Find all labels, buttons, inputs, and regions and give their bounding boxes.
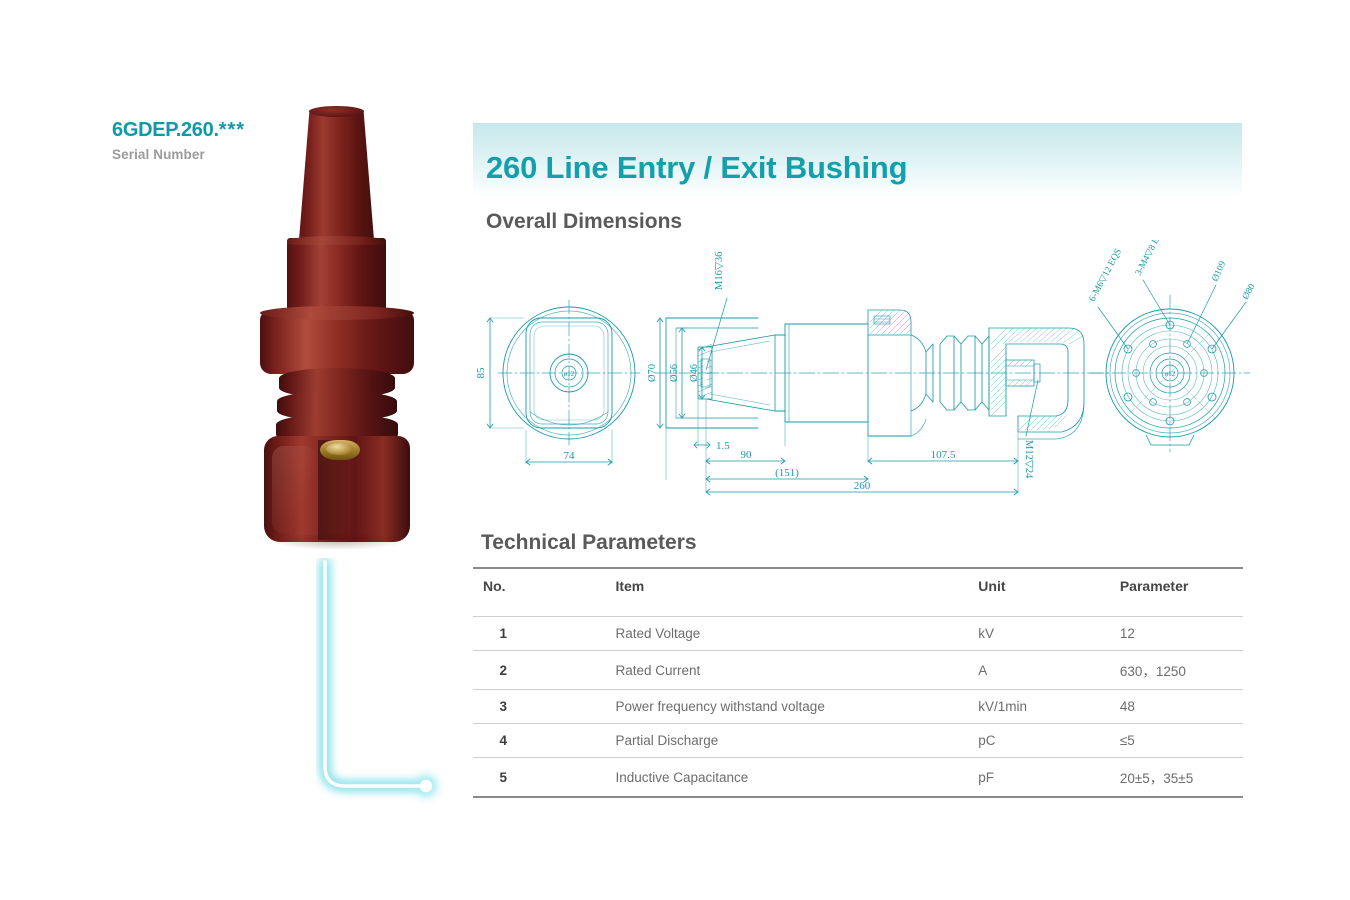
- left-view-height-dim: 85: [475, 367, 487, 379]
- cell-parameter: 630，1250: [1120, 651, 1243, 690]
- cell-item: Partial Discharge: [533, 724, 978, 758]
- cell-item: Rated Voltage: [533, 617, 978, 651]
- drawing-left-end-view: ø12 85 74: [475, 300, 640, 465]
- section-dim-d70: Ø70: [647, 364, 658, 382]
- column-header-parameter: Parameter: [1120, 568, 1243, 617]
- column-header-unit: Unit: [978, 568, 1120, 617]
- cell-unit: pF: [978, 758, 1120, 798]
- right-view-callout-d109: Ø109: [1211, 260, 1229, 284]
- table-row: 4 Partial Discharge pC ≤5: [473, 724, 1243, 758]
- section-len-151: (151): [775, 467, 799, 479]
- table-header: No. Item Unit Parameter: [473, 568, 1243, 617]
- section-title-technical-parameters: Technical Parameters: [481, 531, 697, 555]
- technical-parameters-table: No. Item Unit Parameter 1 Rated Voltage …: [473, 567, 1243, 798]
- cell-no: 1: [473, 617, 533, 651]
- product-top-cone: [299, 110, 374, 240]
- drawing-right-end-view: ø12: [1088, 240, 1258, 452]
- cell-parameter: 12: [1120, 617, 1243, 651]
- cell-item: Rated Current: [533, 651, 978, 690]
- decorative-glow-line: [316, 558, 446, 806]
- table-body: 1 Rated Voltage kV 12 2 Rated Current A …: [473, 617, 1243, 798]
- cell-parameter: 20±5，35±5: [1120, 758, 1243, 798]
- overall-dimensions-drawing: ø12 85 74: [470, 240, 1260, 510]
- product-flange: [260, 311, 414, 374]
- left-view-bore-label: ø12: [564, 370, 575, 378]
- section-len-90: 90: [741, 449, 753, 461]
- product-flange-top-face: [260, 306, 414, 320]
- table-row: 3 Power frequency withstand voltage kV/1…: [473, 690, 1243, 724]
- cell-no: 2: [473, 651, 533, 690]
- right-view-callout-3m4: 3-M4▽8 EQS: [1134, 240, 1168, 277]
- serial-number-label: Serial Number: [112, 147, 245, 162]
- table-row: 1 Rated Voltage kV 12: [473, 617, 1243, 651]
- product-cone-top-face: [309, 106, 364, 117]
- drawing-section-view: Ø70 Ø56 Ø46 M16▽36: [647, 252, 1110, 495]
- cell-unit: kV: [978, 617, 1120, 651]
- section-len-260: 260: [854, 480, 871, 492]
- page-title: 260 Line Entry / Exit Bushing: [486, 150, 907, 186]
- cell-item: Power frequency withstand voltage: [533, 690, 978, 724]
- product-drop-shadow: [270, 534, 404, 550]
- table-row: 2 Rated Current A 630，1250: [473, 651, 1243, 690]
- section-dim-d56: Ø56: [669, 364, 680, 382]
- table-header-row: No. Item Unit Parameter: [473, 568, 1243, 617]
- section-thread-m16-label: M16▽36: [714, 252, 725, 290]
- section-thread-m12-label: M12▽24: [1023, 440, 1034, 479]
- section-dim-d46: Ø46: [689, 364, 700, 382]
- cell-parameter: ≤5: [1120, 724, 1243, 758]
- serial-number-block: 6GDEP.260.*** Serial Number: [112, 120, 245, 162]
- section-title-overall-dimensions: Overall Dimensions: [486, 210, 682, 234]
- product-base-highlight: [272, 446, 316, 534]
- datasheet-page: 6GDEP.260.*** Serial Number: [0, 0, 1350, 900]
- column-header-item: Item: [533, 568, 978, 617]
- right-view-callout-d80: Ø80: [1241, 282, 1258, 301]
- cell-no: 5: [473, 758, 533, 798]
- section-len-1-5: 1.5: [716, 440, 730, 452]
- product-mid-cylinder: [287, 238, 386, 316]
- cell-no: 3: [473, 690, 533, 724]
- cell-unit: pC: [978, 724, 1120, 758]
- left-view-width-dim: 74: [564, 450, 576, 462]
- serial-code-wildcards: ***: [219, 119, 245, 141]
- cell-item: Inductive Capacitance: [533, 758, 978, 798]
- serial-code: 6GDEP.260.***: [112, 120, 245, 140]
- column-header-no: No.: [473, 568, 533, 617]
- table-row: 5 Inductive Capacitance pF 20±5，35±5: [473, 758, 1243, 798]
- product-photo: [246, 110, 436, 550]
- cell-parameter: 48: [1120, 690, 1243, 724]
- serial-code-text: 6GDEP.260.: [112, 119, 219, 141]
- product-cylinder-shoulder: [287, 236, 386, 245]
- product-brass-contact-bore: [326, 443, 353, 455]
- cell-no: 4: [473, 724, 533, 758]
- cell-unit: A: [978, 651, 1120, 690]
- section-len-107-5: 107.5: [931, 449, 956, 461]
- cell-unit: kV/1min: [978, 690, 1120, 724]
- right-view-callout-6m6: 6-M6▽12 EQS: [1088, 247, 1124, 303]
